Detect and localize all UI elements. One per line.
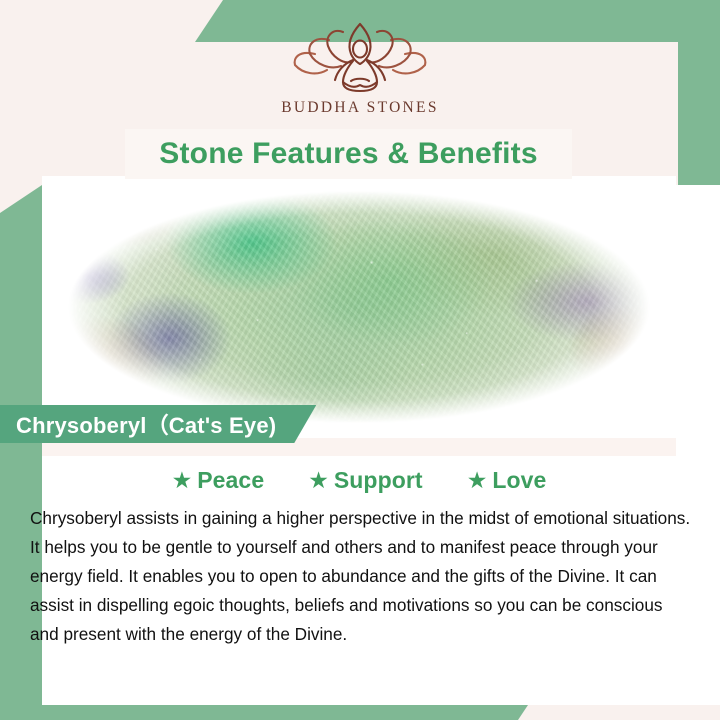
page-title: Stone Features & Benefits bbox=[159, 137, 537, 171]
keyword-peace: ★ Peace bbox=[172, 467, 265, 494]
keyword-row: ★ Peace ★ Support ★ Love bbox=[42, 462, 676, 498]
star-icon: ★ bbox=[467, 469, 488, 492]
keyword-label: Support bbox=[334, 467, 423, 494]
star-icon: ★ bbox=[172, 469, 193, 492]
stone-name-label: Chrysoberyl（Cat's Eye) bbox=[16, 408, 276, 440]
brand-logo: BUDDHA STONES bbox=[0, 18, 720, 128]
stone-photo bbox=[42, 176, 676, 438]
keyword-support: ★ Support bbox=[308, 467, 422, 494]
star-icon: ★ bbox=[308, 469, 329, 492]
title-band: Stone Features & Benefits bbox=[125, 129, 572, 179]
brand-wordmark: BUDDHA STONES bbox=[281, 99, 439, 117]
poster-root: BUDDHA STONES Stone Features & Benefits … bbox=[0, 0, 720, 720]
keyword-label: Love bbox=[492, 467, 546, 494]
stone-description: Chrysoberyl assists in gaining a higher … bbox=[30, 504, 692, 649]
keyword-label: Peace bbox=[197, 467, 264, 494]
stone-name-banner: Chrysoberyl（Cat's Eye) bbox=[0, 405, 316, 443]
lotus-meditation-icon bbox=[285, 18, 435, 96]
keyword-love: ★ Love bbox=[467, 467, 547, 494]
stone-photo-texture bbox=[42, 176, 676, 438]
